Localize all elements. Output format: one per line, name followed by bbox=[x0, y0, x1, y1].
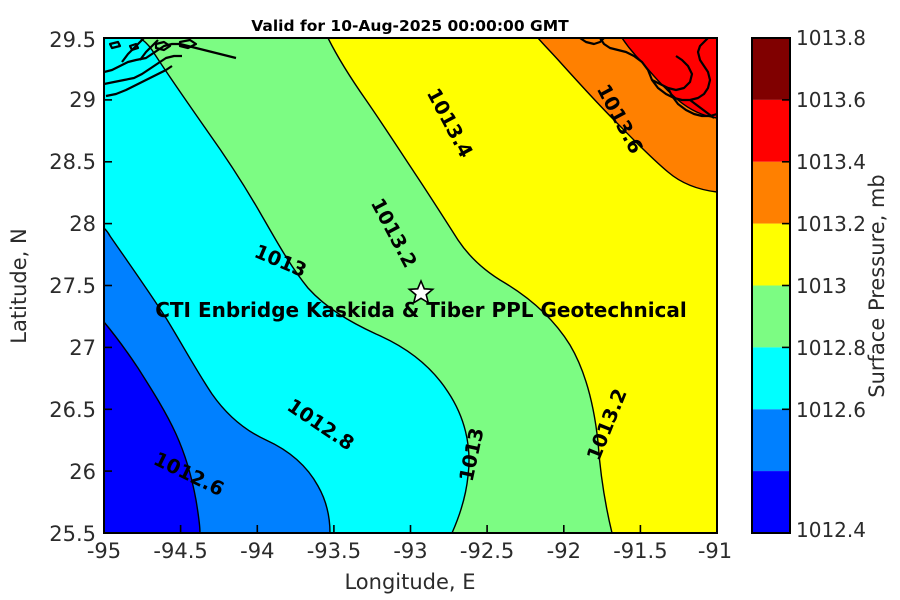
cbar-label-4: 1013 bbox=[796, 274, 847, 298]
y-tick-labels: 25.5 26 26.5 27 27.5 28 28.5 29 29.5 bbox=[49, 28, 96, 546]
x-tick-labels: -95 -94.5 -94 -93.5 -93 -92.5 -92 -91.5 … bbox=[87, 539, 732, 563]
y-tick-label-6: 28.5 bbox=[49, 150, 96, 174]
colorbar-swatch-1012p6 bbox=[752, 409, 790, 471]
colorbar-swatch-1013p6 bbox=[752, 100, 790, 162]
cbar-label-5: 1012.8 bbox=[796, 336, 866, 360]
cbar-label-0: 1013.8 bbox=[796, 26, 866, 50]
y-axis-title: Latitude, N bbox=[7, 228, 31, 344]
cbar-label-7: 1012.4 bbox=[796, 518, 866, 542]
y-tick-label-2: 26.5 bbox=[49, 398, 96, 422]
y-tick-label-0: 25.5 bbox=[49, 522, 96, 546]
x-axis-title: Longitude, E bbox=[344, 570, 475, 594]
y-tick-label-4: 27.5 bbox=[49, 274, 96, 298]
colorbar-swatch-1013p2 bbox=[752, 224, 790, 286]
colorbar-swatch-1013p8 bbox=[752, 38, 790, 100]
page-title: Valid for 10-Aug-2025 00:00:00 GMT bbox=[251, 17, 569, 35]
x-tick-label-1: -94.5 bbox=[153, 539, 207, 563]
y-tick-label-3: 27 bbox=[69, 336, 96, 360]
figure-root: 1013.4 1013.6 1013.2 1013 1013.2 1013 10… bbox=[0, 0, 900, 600]
y-tick-label-1: 26 bbox=[69, 460, 96, 484]
y-tick-label-5: 28 bbox=[69, 212, 96, 236]
contour-figure: 1013.4 1013.6 1013.2 1013 1013.2 1013 10… bbox=[0, 0, 900, 600]
cbar-label-3: 1013.2 bbox=[796, 212, 866, 236]
x-tick-label-6: -92 bbox=[547, 539, 581, 563]
x-tick-label-5: -92.5 bbox=[460, 539, 514, 563]
y-tick-label-7: 29 bbox=[69, 88, 96, 112]
x-tick-label-4: -93 bbox=[393, 539, 427, 563]
cbar-label-6: 1012.6 bbox=[796, 398, 866, 422]
colorbar-swatch-1013p4 bbox=[752, 162, 790, 224]
x-tick-label-7: -91.5 bbox=[613, 539, 667, 563]
colorbar-swatch-1012p8 bbox=[752, 347, 790, 409]
colorbar[interactable]: 1013.8 1013.6 1013.4 1013.2 1013 1012.8 … bbox=[752, 26, 889, 542]
x-tick-label-3: -93.5 bbox=[307, 539, 361, 563]
colorbar-title: Surface Pressure, mb bbox=[865, 174, 889, 397]
x-tick-label-8: -91 bbox=[698, 539, 732, 563]
cbar-label-2: 1013.4 bbox=[796, 150, 866, 174]
y-tick-label-8: 29.5 bbox=[49, 28, 96, 52]
colorbar-swatch-1012p4 bbox=[752, 471, 790, 533]
colorbar-tick-labels: 1013.8 1013.6 1013.4 1013.2 1013 1012.8 … bbox=[796, 26, 866, 542]
site-label: CTI Enbridge Kaskida & Tiber PPL Geotech… bbox=[155, 298, 687, 322]
colorbar-swatch-1013 bbox=[752, 286, 790, 348]
x-tick-label-2: -94 bbox=[240, 539, 274, 563]
cbar-label-1: 1013.6 bbox=[796, 88, 866, 112]
